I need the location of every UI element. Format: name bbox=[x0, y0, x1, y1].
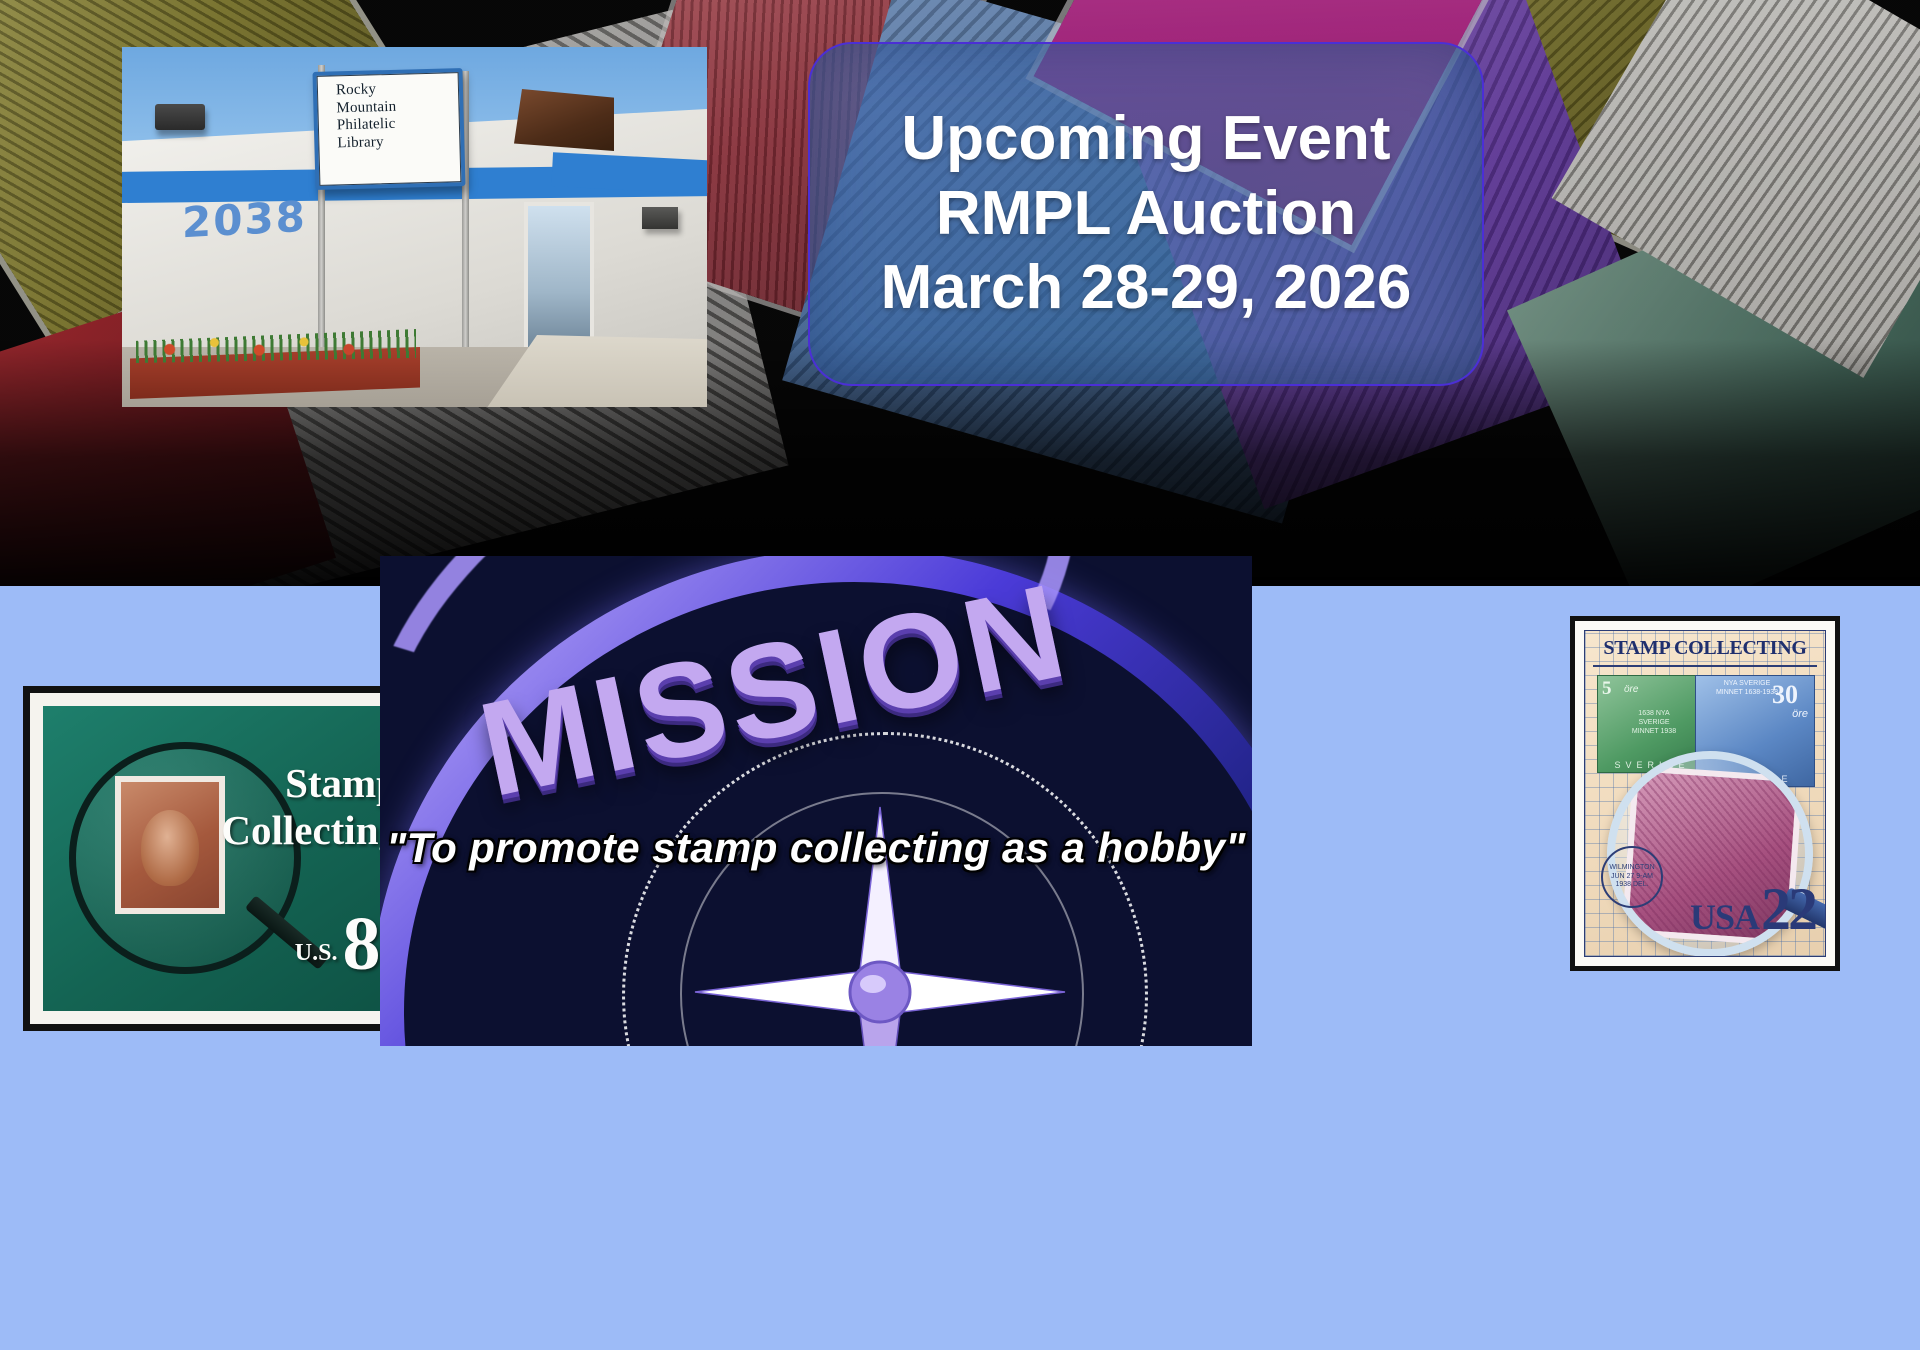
stamp-collecting-8c-stamp: Stamp Collecting U.S. 8 c bbox=[23, 686, 433, 1031]
postmark-cancel: WILMINGTON JUN 27 9-AM 1938 DEL. bbox=[1601, 846, 1663, 908]
library-sign-inner: Rocky Mountain Philatelic Library bbox=[317, 72, 462, 186]
mission-text-layer: MISSION "To promote stamp collecting as … bbox=[380, 556, 1252, 1046]
stamp-right-heading-rule bbox=[1593, 665, 1817, 667]
sign-line-4: Library bbox=[337, 132, 459, 153]
stamp-left-country: U.S. bbox=[295, 940, 338, 967]
stamp-left-value: 8 bbox=[342, 912, 380, 977]
photo-wall-lamp bbox=[155, 104, 205, 130]
stamp-right-perforation: STAMP COLLECTING 5 öre 1638 NYA SVERIGE … bbox=[1575, 621, 1835, 966]
stamp-left-face: Stamp Collecting U.S. 8 c bbox=[43, 706, 413, 1011]
stamp-right-heading: STAMP COLLECTING bbox=[1585, 637, 1825, 660]
upcoming-event-panel: Upcoming Event RMPL Auction March 28-29,… bbox=[808, 42, 1484, 386]
stamp-right-country: USA bbox=[1690, 896, 1759, 938]
photo-door-awning bbox=[514, 89, 614, 151]
library-sign: Rocky Mountain Philatelic Library bbox=[312, 68, 465, 190]
mission-quote: "To promote stamp collecting as a hobby" bbox=[380, 824, 1252, 872]
sweden-5ore-value: 5 bbox=[1602, 678, 1612, 700]
event-title-line-1: Upcoming Event bbox=[901, 102, 1390, 176]
sweden-5ore-unit: öre bbox=[1624, 684, 1638, 695]
mission-heading: MISSION bbox=[468, 556, 1175, 827]
inset-franklin-stamp bbox=[115, 776, 225, 914]
sweden-30ore-unit: öre bbox=[1792, 708, 1808, 720]
stamp-right-value: 22 bbox=[1761, 875, 1815, 944]
usa-22-stamp-collecting-stamp: STAMP COLLECTING 5 öre 1638 NYA SVERIGE … bbox=[1570, 616, 1840, 971]
stamp-left-caption: Stamp Collecting bbox=[221, 762, 399, 852]
sweden-30ore-value: 30 bbox=[1772, 680, 1798, 710]
stamp-left-caption-line-1: Stamp bbox=[221, 762, 399, 805]
stamp-right-face: STAMP COLLECTING 5 öre 1638 NYA SVERIGE … bbox=[1584, 630, 1826, 957]
slide-root: 2038 Rocky Mountain Philatelic Library U… bbox=[0, 0, 1920, 1350]
header-banner: 2038 Rocky Mountain Philatelic Library U… bbox=[0, 0, 1920, 586]
sweden-5ore-text: 1638 NYA SVERIGE MINNET 1938 bbox=[1628, 710, 1680, 736]
event-title-line-3: March 28-29, 2026 bbox=[881, 251, 1412, 325]
stamp-left-caption-line-2: Collecting bbox=[221, 809, 399, 852]
stamp-right-denomination: USA 22 bbox=[1690, 875, 1815, 944]
mission-compass-image: MISSION "To promote stamp collecting as … bbox=[380, 556, 1252, 1046]
body-area: Stamp Collecting U.S. 8 c bbox=[0, 586, 1920, 1350]
stamp-left-perforation: Stamp Collecting U.S. 8 c bbox=[30, 693, 426, 1024]
event-title-line-2: RMPL Auction bbox=[936, 177, 1356, 251]
photo-wall-box bbox=[642, 207, 678, 229]
photo-entrance-door bbox=[524, 202, 594, 354]
photo-address-number: 2038 bbox=[182, 192, 307, 248]
franklin-portrait bbox=[141, 810, 199, 886]
library-building-photo: 2038 Rocky Mountain Philatelic Library bbox=[122, 47, 707, 407]
